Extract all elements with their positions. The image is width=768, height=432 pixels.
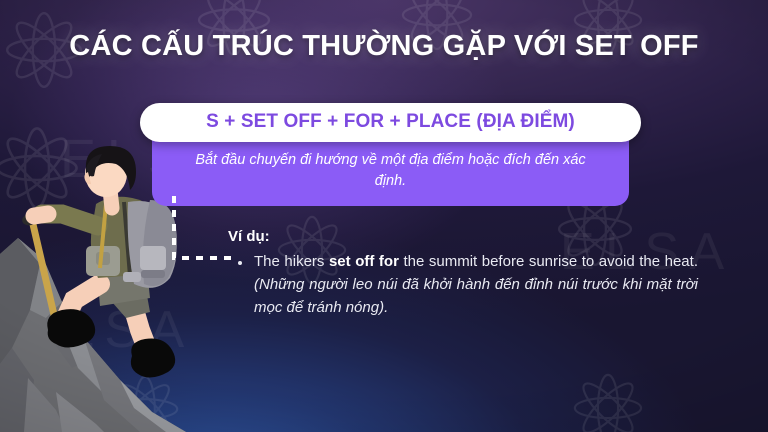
slide-canvas: ELSA ELSA ELSA ELSA CÁC CẤU TRÚC THƯỜNG … (0, 0, 768, 432)
page-title: CÁC CẤU TRÚC THƯỜNG GẶP VỚI SET OFF (0, 30, 768, 63)
flower-watermark-icon (572, 372, 644, 432)
example-text-before: The hikers (254, 253, 329, 270)
list-item: The hikers set off for the summit before… (228, 251, 698, 319)
example-translation: (Những người leo núi đã khởi hành đến đỉ… (254, 276, 698, 316)
example-list: The hikers set off for the summit before… (228, 251, 698, 319)
dashed-connector-icon (170, 196, 236, 268)
example-label: Ví dụ: (228, 228, 698, 245)
example-block: Ví dụ: The hikers set off for the summit… (228, 228, 698, 319)
formula-description-text: Bắt đầu chuyến đi hướng về một địa điểm … (180, 150, 601, 192)
formula-heading-pill: S + SET OFF + FOR + PLACE (ĐỊA ĐIỂM) (140, 103, 641, 142)
formula-card: S + SET OFF + FOR + PLACE (ĐỊA ĐIỂM) Bắt… (140, 103, 641, 206)
example-text-after: the summit before sunrise to avoid the h… (399, 253, 698, 270)
formula-heading-text: S + SET OFF + FOR + PLACE (ĐỊA ĐIỂM) (206, 111, 575, 132)
example-text-bold: set off for (329, 253, 399, 270)
